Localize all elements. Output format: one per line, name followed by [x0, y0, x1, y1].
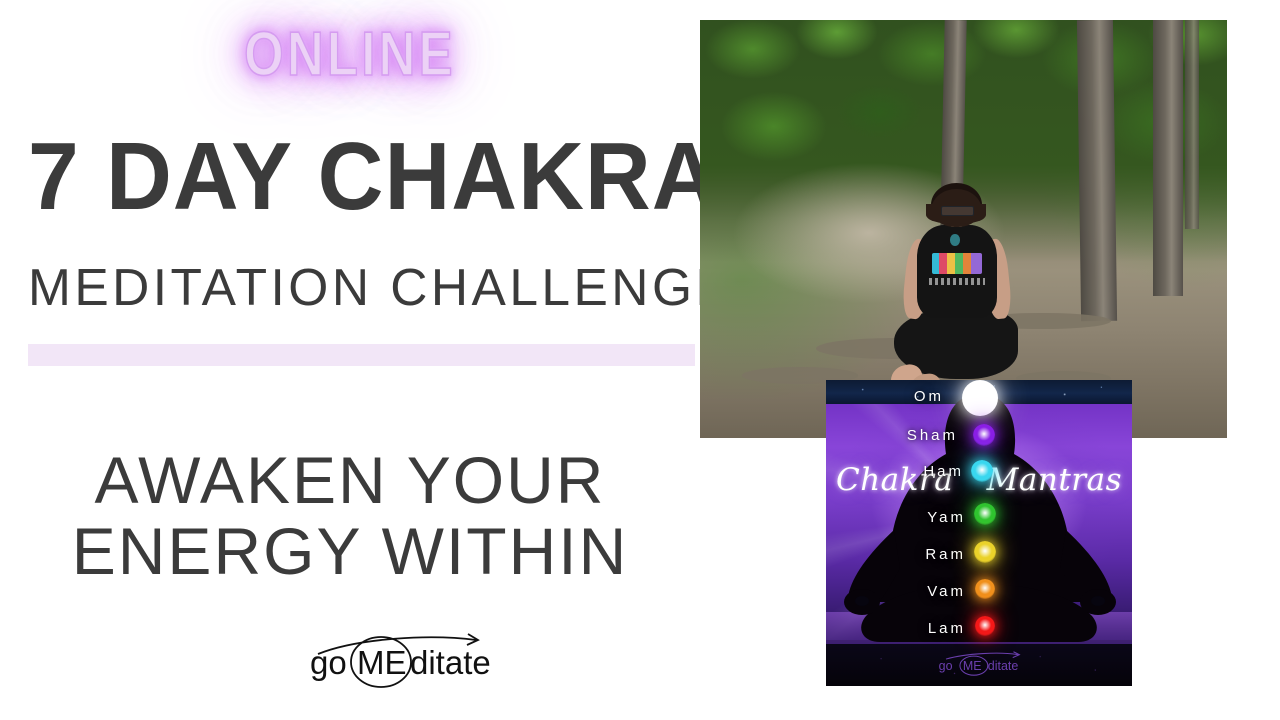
tagline-line2: ENERGY WITHIN — [0, 516, 700, 587]
mantra-label-throat: Ham — [923, 463, 964, 480]
chakra-dot-third-eye — [973, 424, 995, 446]
chakra-dot-heart — [974, 503, 996, 525]
mantra-label-sacral: Vam — [927, 583, 966, 600]
hero-photo — [700, 20, 1227, 438]
promo-poster: ONLINE 7 DAY CHAKRA MEDITATION CHALLENGE… — [0, 0, 1280, 720]
mantra-label-root: Lam — [928, 620, 966, 637]
necklace — [950, 234, 960, 246]
chakra-mantras-card: Chakra Mantras OmShamHamYamRamVamLam go … — [826, 380, 1132, 686]
card-logo-mark: go ME ditate — [924, 647, 1034, 677]
mantra-label-heart: Yam — [927, 509, 966, 526]
logo-text-me: ME — [357, 644, 407, 681]
brand-logo: go ME ditate — [300, 620, 520, 690]
logo-text-go: go — [310, 644, 347, 681]
tree-trunk — [1077, 20, 1117, 321]
tree-trunk — [1185, 20, 1199, 229]
chakra-dot-crown — [962, 380, 998, 416]
script-word-mantras: Mantras — [987, 462, 1122, 498]
mantra-label-crown: Om — [914, 388, 944, 405]
chakra-dot-throat — [971, 460, 993, 482]
chakra-dot-sacral — [975, 579, 995, 599]
chakra-dot-root — [975, 616, 995, 636]
page-title-line2: MEDITATION CHALLENGE — [28, 262, 693, 314]
logo-text-ditate: ditate — [410, 644, 491, 681]
chakra-dot-solar-plexus — [974, 541, 996, 563]
mantra-label-third-eye: Sham — [907, 427, 958, 444]
tank-top-text — [929, 278, 985, 285]
eyebrow-online-label: ONLINE — [63, 24, 637, 86]
mantra-label-solar-plexus: Ram — [925, 546, 966, 563]
tree-trunk — [1153, 20, 1183, 296]
page-title-line1: 7 DAY CHAKRA — [28, 133, 666, 221]
person-hair — [931, 183, 983, 227]
tank-top-graphic — [932, 253, 982, 274]
card-logo-text-ditate: ditate — [988, 659, 1019, 673]
divider-bar — [28, 344, 695, 366]
card-logo-text-me: ME — [963, 659, 982, 673]
tagline: AWAKEN YOUR ENERGY WITHIN — [0, 445, 700, 588]
tagline-line1: AWAKEN YOUR — [95, 443, 606, 517]
card-logo-text-go: go — [939, 659, 953, 673]
glasses-icon — [941, 206, 974, 215]
card-brand-logo: go ME ditate — [826, 647, 1132, 682]
brand-logo-mark: go ME ditate — [300, 620, 520, 690]
